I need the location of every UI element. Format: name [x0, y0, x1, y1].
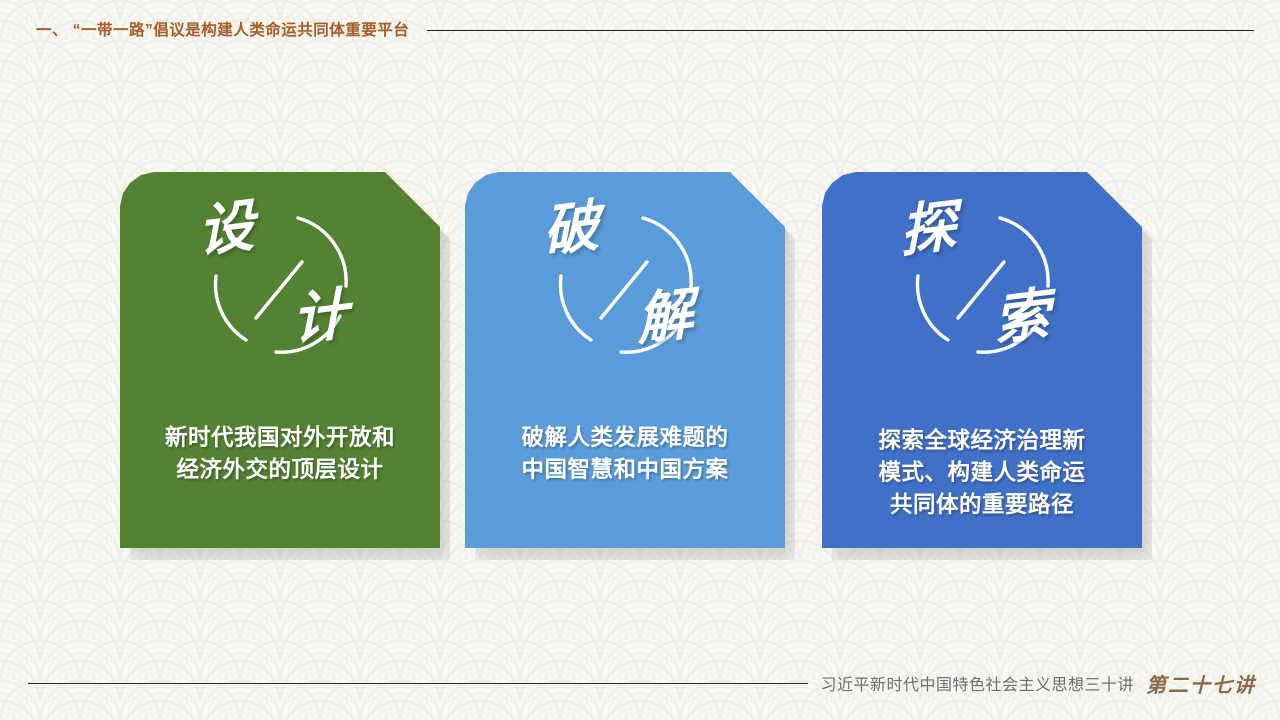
card-explore[interactable]: 探 索 探索全球经济治理新 模式、构建人类命运 共同体的重要路径	[822, 172, 1142, 548]
emblem-char-second: 解	[636, 287, 695, 350]
card-caption: 新时代我国对外开放和 经济外交的顶层设计	[130, 422, 430, 548]
footer-divider-rule	[28, 683, 808, 684]
caption-line: 模式、构建人类命运	[832, 457, 1132, 489]
caption-line: 破解人类发展难题的	[475, 422, 775, 454]
card-emblem: 破 解	[525, 194, 725, 379]
page-title: 一、 “一带一路”倡议是构建人类命运共同体重要平台	[36, 18, 409, 40]
emblem-char-second: 索	[993, 287, 1052, 350]
caption-line: 新时代我国对外开放和	[130, 422, 430, 454]
emblem-char-second: 计	[291, 287, 350, 350]
emblem-char-first: 破	[542, 199, 601, 262]
caption-line: 探索全球经济治理新	[832, 425, 1132, 457]
card-body[interactable]: 破 解 破解人类发展难题的 中国智慧和中国方案	[465, 172, 785, 548]
footer-series-title: 习近平新时代中国特色社会主义思想三十讲	[820, 671, 1134, 695]
card-row: 设 计 新时代我国对外开放和 经济外交的顶层设计 破	[0, 172, 1280, 552]
card-body[interactable]: 探 索 探索全球经济治理新 模式、构建人类命运 共同体的重要路径	[822, 172, 1142, 548]
emblem-char-first: 探	[899, 199, 958, 262]
emblem-char-first: 设	[197, 199, 256, 262]
slide-header: 一、 “一带一路”倡议是构建人类命运共同体重要平台	[36, 14, 1254, 44]
footer-lecture-number: 第二十七讲	[1146, 669, 1256, 698]
caption-line: 经济外交的顶层设计	[130, 454, 430, 486]
card-design[interactable]: 设 计 新时代我国对外开放和 经济外交的顶层设计	[120, 172, 440, 548]
card-body[interactable]: 设 计 新时代我国对外开放和 经济外交的顶层设计	[120, 172, 440, 548]
slide-root: 一、 “一带一路”倡议是构建人类命运共同体重要平台 设 计 新时代我国对外开放和…	[0, 0, 1280, 720]
slide-footer: 习近平新时代中国特色社会主义思想三十讲 第二十七讲	[28, 666, 1256, 700]
caption-line: 中国智慧和中国方案	[475, 454, 775, 486]
card-caption: 探索全球经济治理新 模式、构建人类命运 共同体的重要路径	[832, 425, 1132, 548]
card-solve[interactable]: 破 解 破解人类发展难题的 中国智慧和中国方案	[465, 172, 785, 548]
card-caption: 破解人类发展难题的 中国智慧和中国方案	[475, 422, 775, 548]
card-emblem: 设 计	[180, 194, 380, 379]
card-emblem: 探 索	[882, 194, 1082, 379]
caption-line: 共同体的重要路径	[832, 489, 1132, 521]
header-divider-rule	[427, 30, 1254, 31]
